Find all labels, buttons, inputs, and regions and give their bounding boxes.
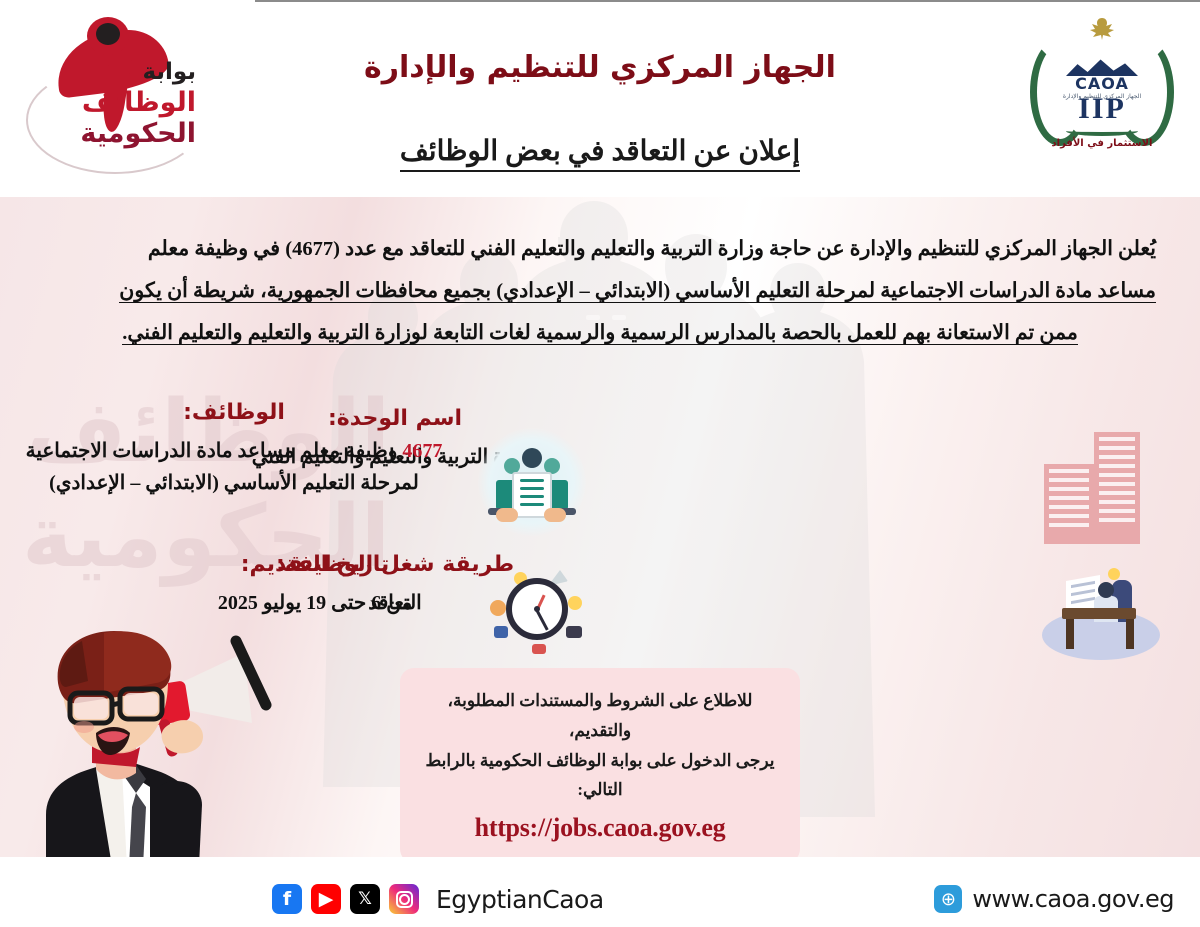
globe-icon: ⊕ [934, 885, 962, 913]
caoa-iip-seal: CAOA الجهاز المركزي للتنظيم والإدارة IIP… [1022, 14, 1182, 166]
youtube-icon[interactable]: ▶ [311, 884, 341, 914]
job-announcement-poster: الوظائف الحكومية بوابة الوظائف الحكومية … [0, 0, 1200, 927]
seal-swoop-shape [1066, 126, 1138, 136]
footer-divider [255, 0, 1200, 2]
clock-icon [484, 568, 588, 664]
portal-logo-line-2: الوظائف [0, 89, 196, 116]
jobs-value-rest: وظيفة معلم مساعد مادة الدراسات الاجتماعي… [26, 440, 403, 462]
people-icon-hand-left [496, 508, 518, 522]
intro-line-1: يُعلن الجهاز المركزي للتنظيم والإدارة عن… [44, 228, 1156, 270]
office-building-icon [1036, 424, 1148, 544]
social-links-group[interactable]: f ▶ 𝕏 EgyptianCaoa [272, 884, 604, 914]
person-at-desk-icon [1036, 556, 1166, 666]
website-address[interactable]: www.caoa.gov.eg [972, 885, 1174, 913]
instagram-icon[interactable] [389, 884, 419, 914]
desk-icon-desktop [1062, 608, 1136, 619]
clock-icon-face [506, 578, 568, 640]
application-portal-url[interactable]: https://jobs.caoa.gov.eg [420, 813, 780, 843]
clock-icon-blob-5 [566, 626, 582, 638]
x-twitter-icon[interactable]: 𝕏 [350, 884, 380, 914]
eagle-emblem-icon [1087, 16, 1117, 42]
website-group[interactable]: ⊕ www.caoa.gov.eg [934, 885, 1174, 913]
call-to-action-box: للاطلاع على الشروط والمستندات المطلوبة، … [400, 668, 800, 863]
application-date-block: تاريخ التقديم: من 6 حتى 19 يوليو 2025 [150, 552, 480, 619]
jobs-value: 4677 وظيفة معلم مساعد مادة الدراسات الاج… [14, 435, 454, 499]
header-band: بوابة الوظائف الحكومية الجهاز المركزي لل… [0, 0, 1200, 197]
desk-icon-leg-left [1066, 619, 1074, 649]
clock-icon-center-dot [534, 606, 540, 612]
caoa-mark-text: CAOA [1055, 76, 1149, 92]
intro-paragraph: يُعلن الجهاز المركزي للتنظيم والإدارة عن… [0, 228, 1200, 354]
jobs-value-line-2: لمرحلة التعليم الأساسي (الابتدائي – الإع… [14, 467, 454, 499]
clock-icon-minute-hand [536, 610, 549, 631]
announcement-title-text: إعلان عن التعاقد في بعض الوظائف [400, 136, 800, 172]
caoa-mountain-shape [1066, 58, 1138, 76]
building-icon-tower-short [1044, 464, 1094, 544]
desk-icon-person-head [1098, 582, 1114, 598]
iip-text: IIP [1022, 92, 1182, 126]
people-clipboard-icon [478, 428, 586, 536]
info-grid: اسم الوحدة: وزارة التربية والتعليم والتع… [0, 392, 1200, 662]
application-date-label: تاريخ التقديم: [150, 552, 480, 577]
jobs-count: 4677 [402, 440, 442, 462]
intro-line-3: ممن تم الاستعانة بهم للعمل بالحصة بالمدا… [44, 312, 1156, 354]
cta-line-1: للاطلاع على الشروط والمستندات المطلوبة، … [420, 686, 780, 746]
intro-line-2: مساعد مادة الدراسات الاجتماعية لمرحلة ال… [44, 270, 1156, 312]
intro-line-2-text: مساعد مادة الدراسات الاجتماعية لمرحلة ال… [119, 280, 1156, 303]
social-handle: EgyptianCaoa [436, 885, 604, 914]
logo-figure-head-inner [96, 23, 120, 45]
announcement-title: إعلان عن التعاقد في بعض الوظائف [0, 134, 1200, 168]
jobs-block: الوظائف: 4677 وظيفة معلم مساعد مادة الدر… [14, 400, 454, 499]
intro-line-3-text: ممن تم الاستعانة بهم للعمل بالحصة بالمدا… [122, 322, 1078, 345]
clock-icon-blob-6 [532, 644, 546, 654]
jobs-value-line-1: 4677 وظيفة معلم مساعد مادة الدراسات الاج… [14, 435, 454, 467]
agency-title: الجهاز المركزي للتنظيم والإدارة [0, 50, 1200, 85]
application-date-value: من 6 حتى 19 يوليو 2025 [150, 587, 480, 619]
people-icon-hand-right [544, 508, 566, 522]
clock-icon-blob-1 [490, 600, 506, 616]
facebook-icon[interactable]: f [272, 884, 302, 914]
clock-icon-blob-2 [568, 596, 582, 610]
desk-icon-lightbulb [1108, 568, 1120, 580]
people-icon-person-center [522, 448, 542, 468]
desk-icon-leg-right [1126, 619, 1134, 649]
seal-caption: الاستثمار في الأفراد [1022, 138, 1182, 149]
jobs-label: الوظائف: [14, 400, 454, 425]
building-icon-tower-tall [1094, 432, 1140, 544]
cta-line-2: يرجى الدخول على بوابة الوظائف الحكومية ب… [420, 746, 780, 806]
clock-icon-blob-4 [494, 626, 508, 638]
